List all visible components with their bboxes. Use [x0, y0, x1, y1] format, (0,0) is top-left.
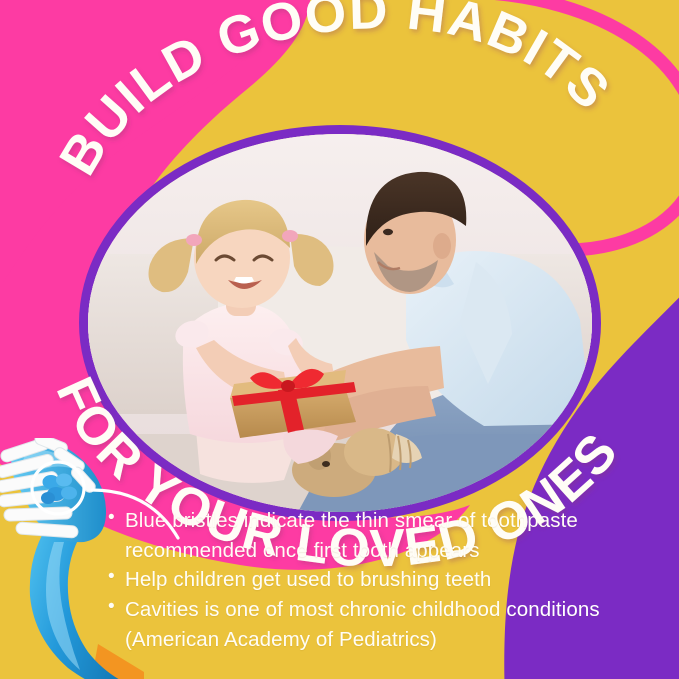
product-info-banner: BUILD GOOD HABITS FOR YOUR LOVED ONES [0, 0, 679, 679]
bullet-1-line-2: recommended once first tooth appears [108, 536, 668, 565]
bullet-3-line-2: (American Academy of Pediatrics) [108, 625, 668, 654]
bullet-1-line-1: Blue bristles indicate the thin smear of… [125, 509, 578, 532]
bullet-3-emphasis: conditions [506, 598, 599, 621]
list-item: Blue bristles indicate the thin smear of… [108, 506, 668, 535]
bullet-2-line-1: Help children get used to brushing teeth [125, 568, 491, 591]
list-item: Cavities is one of most chronic childhoo… [108, 595, 668, 624]
bullet-3-line-1: Cavities is one of most chronic childhoo… [125, 598, 506, 621]
feature-bullet-list: Blue bristles indicate the thin smear of… [108, 506, 668, 655]
list-item: Help children get used to brushing teeth [108, 565, 668, 594]
